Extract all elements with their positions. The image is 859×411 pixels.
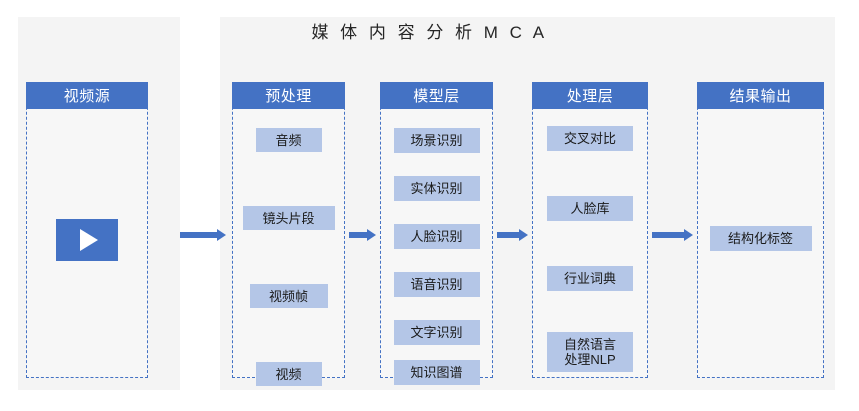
chip-item[interactable]: 自然语言 处理NLP [547,332,633,372]
play-triangle-icon [80,229,98,251]
stage-body-processing-layer: 交叉对比 人脸库 行业词典 自然语言 处理NLP [533,110,647,377]
arrow-source-to-preprocessing [180,229,226,241]
chip-item[interactable]: 文字识别 [394,320,480,345]
stage-body-result-output: 结构化标签 [698,110,823,377]
stage-body-video-source [27,110,147,377]
chip-item[interactable]: 视频帧 [250,284,328,308]
stage-preprocessing: 预处理 音频 镜头片段 视频帧 视频 [232,82,345,378]
chip-item[interactable]: 实体识别 [394,176,480,201]
chip-item[interactable]: 交叉对比 [547,126,633,151]
arrow-shaft [180,232,217,238]
stage-result-output: 结果输出 结构化标签 [697,82,824,378]
stage-header-video-source: 视频源 [26,82,148,109]
stage-processing-layer: 处理层 交叉对比 人脸库 行业词典 自然语言 处理NLP [532,82,648,378]
chip-item[interactable]: 人脸识别 [394,224,480,249]
stage-header-model-layer: 模型层 [380,82,493,109]
arrow-head-icon [519,229,528,241]
stage-header-result-output: 结果输出 [697,82,824,109]
arrow-model-to-processing [497,229,528,241]
chip-item[interactable]: 语音识别 [394,272,480,297]
arrow-shaft [349,232,367,238]
stage-header-processing-layer: 处理层 [532,82,648,109]
chip-item[interactable]: 音频 [256,128,322,152]
arrow-head-icon [684,229,693,241]
chip-item[interactable]: 视频 [256,362,322,386]
arrow-preprocessing-to-model [349,229,376,241]
chip-item[interactable]: 场景识别 [394,128,480,153]
chip-item[interactable]: 人脸库 [547,196,633,221]
arrow-shaft [497,232,519,238]
stage-body-preprocessing: 音频 镜头片段 视频帧 视频 [233,110,344,377]
play-button-icon[interactable] [56,219,118,261]
stage-header-preprocessing: 预处理 [232,82,345,109]
arrow-processing-to-output [652,229,693,241]
stage-video-source: 视频源 [26,82,148,378]
chip-item[interactable]: 镜头片段 [243,206,335,230]
arrow-shaft [652,232,684,238]
stage-body-model-layer: 场景识别 实体识别 人脸识别 语音识别 文字识别 知识图谱 [381,110,492,377]
stage-model-layer: 模型层 场景识别 实体识别 人脸识别 语音识别 文字识别 知识图谱 [380,82,493,378]
diagram-title: 媒 体 内 容 分 析 M C A [0,18,859,43]
arrow-head-icon [367,229,376,241]
chip-item[interactable]: 行业词典 [547,266,633,291]
arrow-head-icon [217,229,226,241]
chip-item[interactable]: 结构化标签 [710,226,812,251]
chip-item[interactable]: 知识图谱 [394,360,480,385]
